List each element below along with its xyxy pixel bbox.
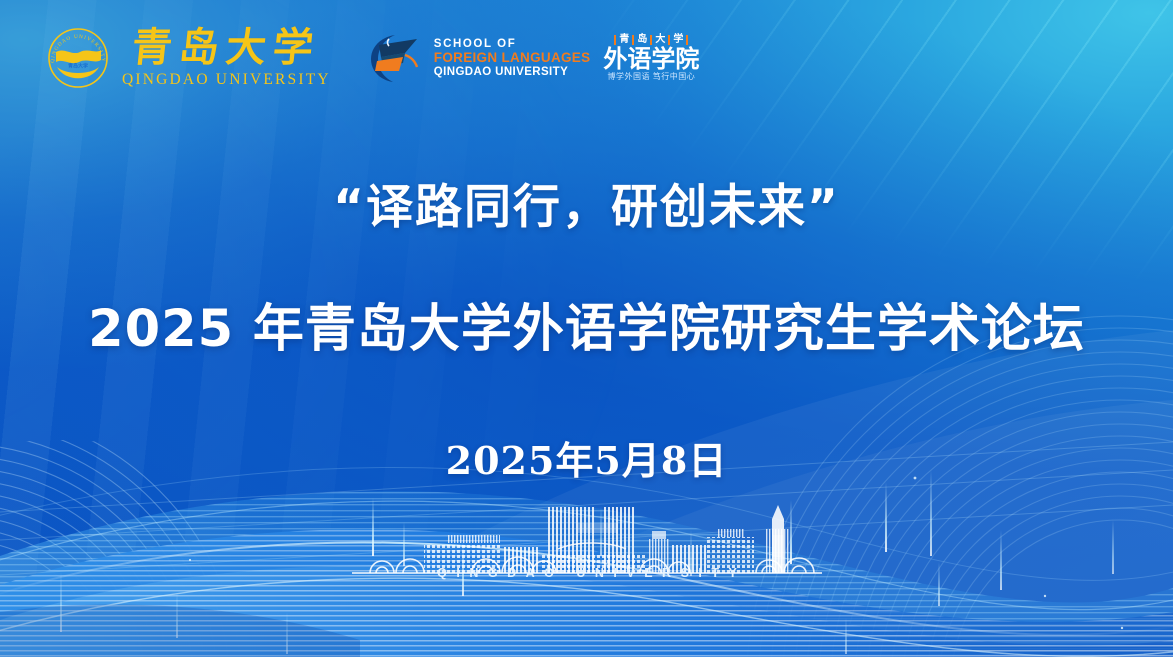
school-of-foreign-languages-logo: SCHOOL OF FOREIGN LANGUAGES QINGDAO UNIV…: [365, 27, 700, 89]
university-name-en: QINGDAO UNIVERSITY: [122, 72, 331, 88]
poster-canvas: QINGDAO UNIVERSITY 青岛大学 1909 青岛大学 QINGDA…: [0, 0, 1173, 657]
event-date: 2025年5月8日: [0, 430, 1173, 485]
svg-text:1909: 1909: [74, 72, 82, 77]
svg-text:青岛大学: 青岛大学: [68, 63, 88, 70]
university-name-cn: 青岛大学: [130, 28, 322, 68]
title-block: “译路同行，研创未来” 2025 年青岛大学外语学院研究生学术论坛: [0, 168, 1173, 361]
school-cn-motto: 博学外国语 笃行中国心: [608, 73, 696, 81]
qingdao-skyline-graphic: [352, 495, 822, 595]
event-title: 2025 年青岛大学外语学院研究生学术论坛: [0, 287, 1173, 361]
qingdao-university-logo: QINGDAO UNIVERSITY 青岛大学 1909 青岛大学 QINGDA…: [46, 26, 331, 90]
school-en-line3: QINGDAO UNIVERSITY: [434, 66, 591, 79]
university-seal-icon: QINGDAO UNIVERSITY 青岛大学 1909: [46, 26, 110, 90]
event-slogan: “译路同行，研创未来”: [0, 168, 1173, 237]
logo-bar: QINGDAO UNIVERSITY 青岛大学 1909 青岛大学 QINGDA…: [46, 26, 699, 90]
skyline-caption: QINGDAO UNIVERSITY: [352, 566, 822, 580]
graduation-cap-icon: [365, 27, 427, 89]
school-en-line1: SCHOOL OF: [434, 38, 591, 51]
school-en-line2: FOREIGN LANGUAGES: [434, 50, 591, 65]
school-cn-university-chars: 青 岛 大 学: [614, 35, 688, 45]
school-chinese-name: 青 岛 大 学 外语学院 博学外国语 笃行中国心: [603, 35, 699, 81]
school-english-name: SCHOOL OF FOREIGN LANGUAGES QINGDAO UNIV…: [434, 38, 591, 79]
school-cn-main: 外语学院: [603, 47, 699, 71]
